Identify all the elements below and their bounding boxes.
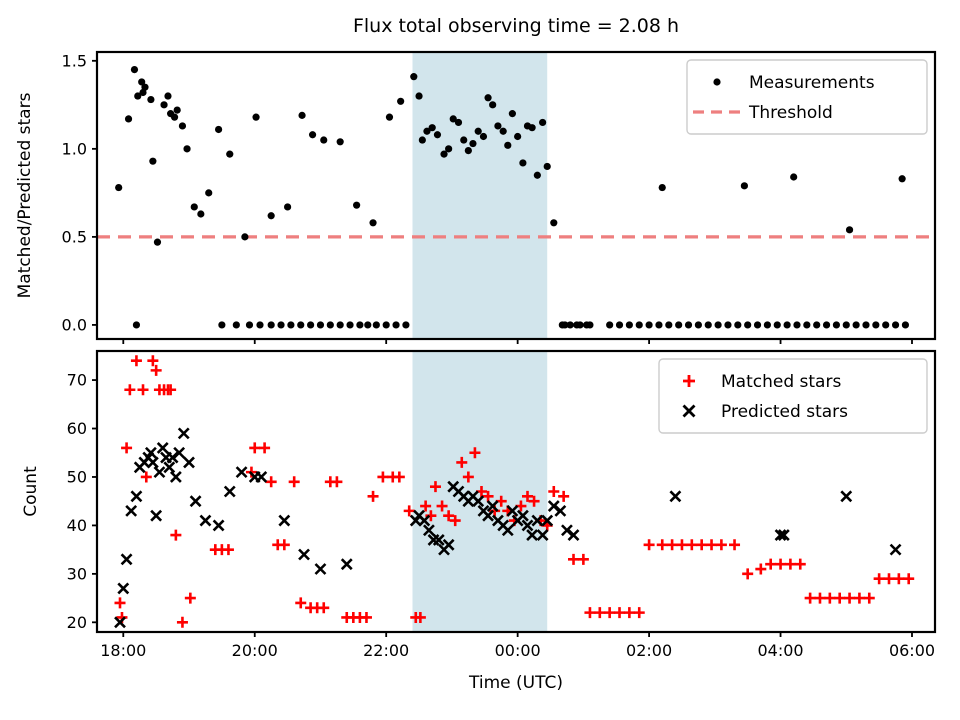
data-point (892, 321, 899, 328)
data-point (141, 84, 148, 91)
data-point (645, 321, 652, 328)
data-point (659, 184, 666, 191)
data-point (256, 321, 263, 328)
data-point (149, 158, 156, 165)
data-point (241, 233, 248, 240)
data-point (164, 92, 171, 99)
shaded-observing-window (412, 52, 547, 339)
data-point (115, 184, 122, 191)
data-point (475, 128, 482, 135)
data-point (455, 119, 462, 126)
x-tick-label: 18:00 (100, 641, 146, 660)
data-point (386, 114, 393, 121)
y-tick-label: 20 (67, 613, 87, 632)
legend-marker-dot-icon (713, 78, 720, 85)
legend: Matched starsPredicted stars (659, 359, 927, 433)
legend-label: Measurements (749, 73, 875, 93)
data-point (353, 202, 360, 209)
data-point (268, 212, 275, 219)
data-point (277, 321, 284, 328)
data-point (317, 321, 324, 328)
legend: MeasurementsThreshold (687, 60, 927, 134)
y-tick-label: 1.5 (62, 51, 87, 70)
x-axis-label: Time (UTC) (468, 673, 563, 693)
data-point (803, 321, 810, 328)
data-point (309, 131, 316, 138)
data-point (514, 133, 521, 140)
data-point (846, 226, 853, 233)
data-point (616, 321, 623, 328)
data-point (764, 321, 771, 328)
y-tick-label: 30 (67, 564, 87, 583)
data-point (519, 159, 526, 166)
x-tick-label: 20:00 (232, 641, 278, 660)
data-point (337, 321, 344, 328)
data-point (364, 321, 371, 328)
data-point (392, 321, 399, 328)
data-point (695, 321, 702, 328)
data-point (179, 122, 186, 129)
x-tick-label: 02:00 (626, 641, 672, 660)
data-point (252, 114, 259, 121)
data-point (902, 321, 909, 328)
data-point (872, 321, 879, 328)
data-point (544, 163, 551, 170)
y-tick-label: 60 (67, 419, 87, 438)
data-point (823, 321, 830, 328)
data-point (327, 321, 334, 328)
data-point (429, 124, 436, 131)
data-point (534, 172, 541, 179)
data-point (147, 96, 154, 103)
data-point (494, 122, 501, 129)
data-point (383, 321, 390, 328)
data-point (246, 321, 253, 328)
data-point (160, 101, 167, 108)
data-point (287, 321, 294, 328)
data-point (469, 140, 476, 147)
y-axis-label: Count (21, 466, 41, 517)
x-tick-label: 22:00 (363, 641, 409, 660)
data-point (183, 145, 190, 152)
data-point (833, 321, 840, 328)
data-point (125, 115, 132, 122)
data-point (410, 73, 417, 80)
data-point (539, 119, 546, 126)
data-point (445, 145, 452, 152)
data-point (504, 142, 511, 149)
data-point (862, 321, 869, 328)
data-point (307, 321, 314, 328)
y-tick-label: 0.5 (62, 227, 87, 246)
data-point (284, 203, 291, 210)
data-point (174, 107, 181, 114)
data-point (397, 98, 404, 105)
data-point (218, 321, 225, 328)
data-point (790, 173, 797, 180)
data-point (636, 321, 643, 328)
data-point (154, 239, 161, 246)
data-point (480, 133, 487, 140)
data-point (774, 321, 781, 328)
data-point (484, 94, 491, 101)
chart-title: Flux total observing time = 2.08 h (353, 15, 679, 37)
data-point (268, 321, 275, 328)
data-point (715, 321, 722, 328)
x-tick-label: 00:00 (495, 641, 541, 660)
data-point (465, 147, 472, 154)
data-point (853, 321, 860, 328)
data-point (500, 128, 507, 135)
data-point (197, 210, 204, 217)
data-point (373, 321, 380, 328)
data-point (434, 131, 441, 138)
data-point (297, 321, 304, 328)
data-point (356, 321, 363, 328)
data-point (402, 321, 409, 328)
data-point (419, 136, 426, 143)
data-point (233, 321, 240, 328)
data-point (171, 114, 178, 121)
data-point (685, 321, 692, 328)
data-point (415, 92, 422, 99)
data-point (843, 321, 850, 328)
data-point (813, 321, 820, 328)
data-point (744, 321, 751, 328)
data-point (583, 321, 590, 328)
data-point (655, 321, 662, 328)
data-point (460, 136, 467, 143)
data-point (561, 321, 568, 328)
data-point (133, 321, 140, 328)
data-point (320, 136, 327, 143)
chart-canvas: Flux total observing time = 2.08 h 0.00.… (0, 0, 960, 720)
data-point (705, 321, 712, 328)
data-point (724, 321, 731, 328)
data-point (369, 219, 376, 226)
data-point (337, 138, 344, 145)
x-tick-label: 04:00 (757, 641, 803, 660)
data-point (573, 321, 580, 328)
data-point (675, 321, 682, 328)
data-point (489, 101, 496, 108)
y-tick-label: 0.0 (62, 315, 87, 334)
legend-label: Predicted stars (721, 402, 848, 422)
y-tick-label: 1.0 (62, 139, 87, 158)
data-point (191, 203, 198, 210)
data-point (215, 126, 222, 133)
data-point (665, 321, 672, 328)
y-tick-label: 50 (67, 467, 87, 486)
data-point (550, 219, 557, 226)
data-point (626, 321, 633, 328)
data-point (754, 321, 761, 328)
y-axis-label: Matched/Predicted stars (15, 92, 35, 298)
data-point (882, 321, 889, 328)
data-point (226, 151, 233, 158)
data-point (793, 321, 800, 328)
legend-label: Matched stars (721, 372, 841, 392)
data-point (509, 110, 516, 117)
data-point (205, 189, 212, 196)
data-point (298, 112, 305, 119)
data-point (784, 321, 791, 328)
data-point (734, 321, 741, 328)
data-point (899, 175, 906, 182)
data-point (346, 321, 353, 328)
data-point (741, 182, 748, 189)
y-tick-label: 70 (67, 371, 87, 390)
data-point (606, 321, 613, 328)
data-point (529, 124, 536, 131)
figure-root: Flux total observing time = 2.08 h 0.00.… (0, 0, 960, 720)
legend-label: Threshold (748, 103, 833, 123)
y-tick-label: 40 (67, 516, 87, 535)
data-point (131, 66, 138, 73)
x-tick-label: 06:00 (889, 641, 935, 660)
